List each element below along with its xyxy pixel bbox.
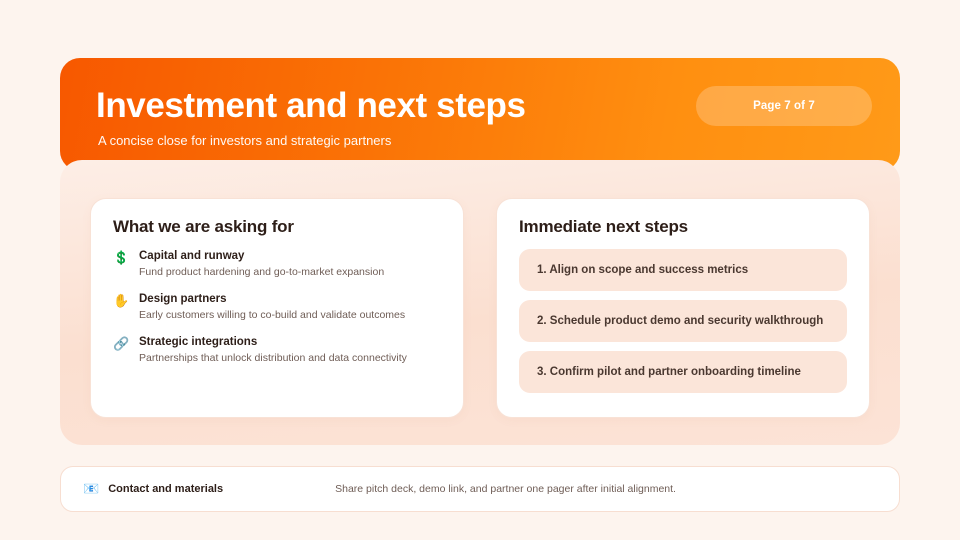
list-item: 2. Schedule product demo and security wa… [519, 300, 847, 342]
contact-note: Share pitch deck, demo link, and partner… [335, 483, 676, 495]
next-steps-title: Immediate next steps [519, 217, 847, 237]
asking-item-text: Capital and runway Fund product hardenin… [139, 249, 441, 280]
asking-for-card: What we are asking for 💲 Capital and run… [90, 198, 464, 418]
list-item: 1. Align on scope and success metrics [519, 249, 847, 291]
asking-item-label: Strategic integrations [139, 335, 441, 350]
next-steps-card: Immediate next steps 1. Align on scope a… [496, 198, 870, 418]
next-steps-list: 1. Align on scope and success metrics 2.… [519, 249, 847, 393]
content-cards: What we are asking for 💲 Capital and run… [60, 198, 900, 418]
list-item: 💲 Capital and runway Fund product harden… [113, 249, 441, 280]
contact-label: Contact and materials [108, 483, 223, 495]
list-item: 🔗 Strategic integrations Partnerships th… [113, 335, 441, 366]
asking-item-label: Capital and runway [139, 249, 441, 264]
dollar-icon: 💲 [113, 250, 129, 266]
asking-item-text: Design partners Early customers willing … [139, 292, 441, 323]
link-icon: 🔗 [113, 336, 129, 352]
raised-hand-icon: ✋ [113, 293, 129, 309]
list-item: ✋ Design partners Early customers willin… [113, 292, 441, 323]
page-number-badge: Page 7 of 7 [696, 86, 872, 126]
slide-root: Investment and next steps A concise clos… [0, 0, 960, 540]
asking-item-text: Strategic integrations Partnerships that… [139, 335, 441, 366]
asking-item-description: Partnerships that unlock distribution an… [139, 351, 441, 366]
asking-for-list: 💲 Capital and runway Fund product harden… [113, 249, 441, 366]
asking-item-description: Early customers willing to co-build and … [139, 308, 441, 323]
page-subtitle: A concise close for investors and strate… [98, 132, 866, 150]
asking-item-description: Fund product hardening and go-to-market … [139, 265, 441, 280]
contact-bar: 📧 Contact and materials Share pitch deck… [60, 466, 900, 512]
envelope-icon: 📧 [83, 481, 99, 497]
slide-header: Investment and next steps A concise clos… [60, 58, 900, 171]
list-item: 3. Confirm pilot and partner onboarding … [519, 351, 847, 393]
asking-for-title: What we are asking for [113, 217, 441, 237]
asking-item-label: Design partners [139, 292, 441, 307]
